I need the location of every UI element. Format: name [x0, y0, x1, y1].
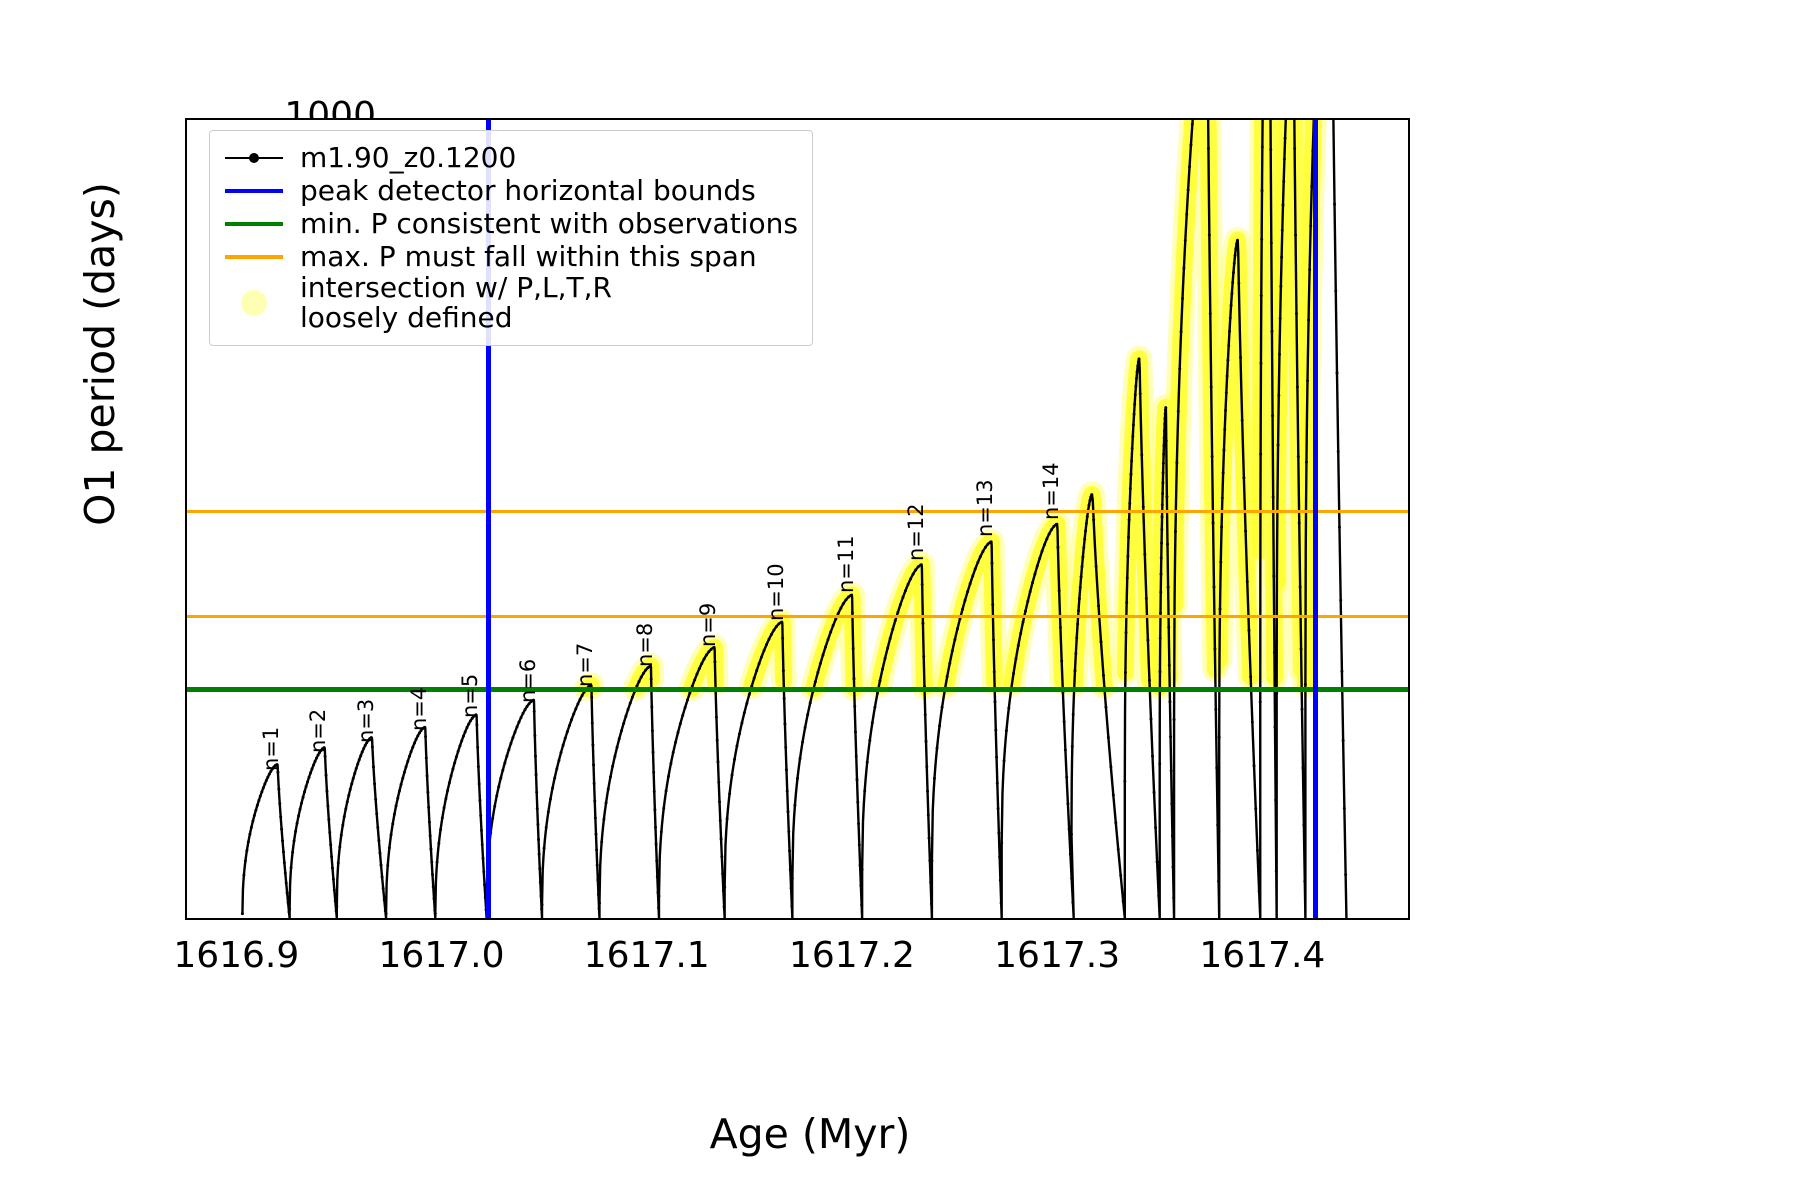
cycle-label-n6: n=6: [516, 659, 540, 703]
cycle-label-n5: n=5: [458, 674, 482, 718]
legend-entry[interactable]: peak detector horizontal bounds: [222, 176, 798, 206]
legend-key-line: [222, 255, 286, 259]
x-tick-major: [1058, 918, 1061, 920]
x-tick-minor: [524, 918, 527, 920]
legend-entry-label: min. P consistent with observations: [300, 209, 798, 239]
x-tick-minor: [811, 918, 814, 920]
x-tick-label: 1617.4: [1142, 935, 1382, 976]
legend-entry[interactable]: m1.90_z0.1200: [222, 143, 798, 173]
legend-key-line-icon: [225, 189, 283, 193]
legend-entry-label: max. P must fall within this span: [300, 242, 757, 272]
x-tick-minor: [1345, 918, 1348, 920]
x-tick-label: 1616.9: [116, 935, 356, 976]
cycle-label-n1: n=1: [259, 727, 283, 771]
x-tick-minor: [1386, 918, 1389, 920]
figure-canvas: O1 period (days) Age (Myr) 2004006008001…: [0, 0, 1800, 1200]
legend-key-line-icon: [225, 255, 283, 259]
x-tick-minor: [565, 918, 568, 920]
x-tick-major: [237, 918, 240, 920]
cycle-label-n14: n=14: [1039, 462, 1063, 520]
legend-key-line: [222, 222, 286, 226]
x-tick-minor: [360, 918, 363, 920]
legend-entry[interactable]: max. P must fall within this span: [222, 242, 798, 272]
x-tick-minor: [976, 918, 979, 920]
cycle-label-n7: n=7: [573, 643, 597, 687]
x-tick-minor: [1222, 918, 1225, 920]
legend-key-line-icon: [225, 222, 283, 226]
x-tick-minor: [1304, 918, 1307, 920]
legend-key-marker-dot-icon: [249, 153, 259, 163]
x-tick-minor: [1181, 918, 1184, 920]
x-tick-label: 1617.1: [527, 935, 767, 976]
x-tick-major: [852, 918, 855, 920]
cycle-label-n2: n=2: [306, 709, 330, 753]
legend-entry[interactable]: min. P consistent with observations: [222, 209, 798, 239]
x-tick-label: 1617.3: [937, 935, 1177, 976]
x-tick-minor: [1017, 918, 1020, 920]
cycle-label-n11: n=11: [834, 535, 858, 593]
cycle-label-n9: n=9: [696, 603, 720, 647]
x-tick-minor: [770, 918, 773, 920]
legend-marker-yellow-blob-icon: [241, 290, 267, 316]
x-tick-minor: [196, 918, 199, 920]
legend-entry-label: intersection w/ P,L,T,R loosely defined: [300, 273, 612, 332]
min-period-line: [187, 687, 1408, 692]
cycle-label-n13: n=13: [973, 480, 997, 538]
cycle-label-n12: n=12: [904, 503, 928, 561]
cycle-label-n10: n=10: [764, 563, 788, 621]
legend-entry-label: m1.90_z0.1200: [300, 143, 516, 173]
legend-entry[interactable]: intersection w/ P,L,T,R loosely defined: [222, 275, 798, 331]
x-tick-minor: [729, 918, 732, 920]
legend-key-blob: [222, 290, 286, 316]
cycle-label-n4: n=4: [407, 687, 431, 731]
x-tick-minor: [278, 918, 281, 920]
x-tick-minor: [1099, 918, 1102, 920]
max-period-span-line: [187, 615, 1408, 618]
x-tick-minor: [319, 918, 322, 920]
x-tick-minor: [606, 918, 609, 920]
x-axis-title: Age (Myr): [0, 1110, 1620, 1158]
x-tick-minor: [893, 918, 896, 920]
x-tick-label: 1617.2: [732, 935, 972, 976]
x-tick-major: [442, 918, 445, 920]
x-tick-minor: [483, 918, 486, 920]
plot-area: n=1n=2n=3n=4n=5n=6n=7n=8n=9n=10n=11n=12n…: [185, 118, 1410, 920]
x-tick-major: [1263, 918, 1266, 920]
cycle-label-n3: n=3: [354, 698, 378, 742]
x-tick-minor: [1140, 918, 1143, 920]
x-tick-label: 1617.0: [322, 935, 562, 976]
legend-entry-label: peak detector horizontal bounds: [300, 176, 756, 206]
x-tick-minor: [688, 918, 691, 920]
cycle-label-n8: n=8: [633, 623, 657, 667]
max-period-span-line: [187, 510, 1408, 513]
x-tick-major: [647, 918, 650, 920]
y-axis-title: O1 period (days): [76, 54, 124, 654]
x-tick-minor: [401, 918, 404, 920]
peak-detector-bound-line: [1313, 120, 1318, 918]
x-tick-minor: [935, 918, 938, 920]
legend-key-line: [222, 157, 286, 159]
chart-legend[interactable]: m1.90_z0.1200peak detector horizontal bo…: [209, 130, 813, 346]
legend-key-line: [222, 189, 286, 193]
